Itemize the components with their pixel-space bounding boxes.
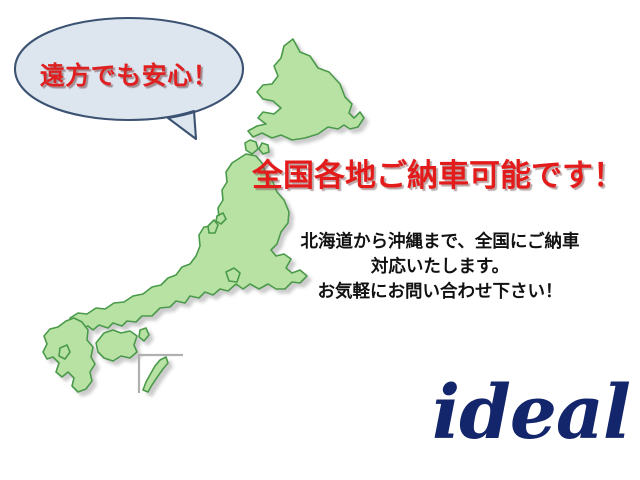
map-region-hokkaido <box>248 39 364 140</box>
page-title: 全国各地ご納車可能です！ <box>252 150 640 195</box>
body-copy-line-1: 北海道から沖縄まで、全国にご納車 <box>250 230 630 255</box>
brand-logo: ideal <box>432 372 602 454</box>
map-island-awaji <box>139 328 149 341</box>
brand-logo-wordmark: ideal <box>432 370 630 456</box>
speech-bubble-text: 遠方でも安心！ <box>10 56 248 92</box>
promo-banner: 遠方でも安心！ 全国各地ご納車可能です！ 北海道から沖縄まで、全国にご納車 対応… <box>0 0 640 480</box>
body-copy-line-2: 対応いたします。 <box>250 255 630 280</box>
speech-bubble: 遠方でも安心！ <box>10 12 248 142</box>
body-copy-line-3: お気軽にお問い合わせ下さい！ <box>250 280 630 305</box>
map-region-okinawa <box>143 357 168 392</box>
map-region-kyushu <box>43 318 95 392</box>
body-copy: 北海道から沖縄まで、全国にご納車 対応いたします。 お気軽にお問い合わせ下さい！ <box>250 230 630 305</box>
map-region-shikoku <box>96 330 137 361</box>
